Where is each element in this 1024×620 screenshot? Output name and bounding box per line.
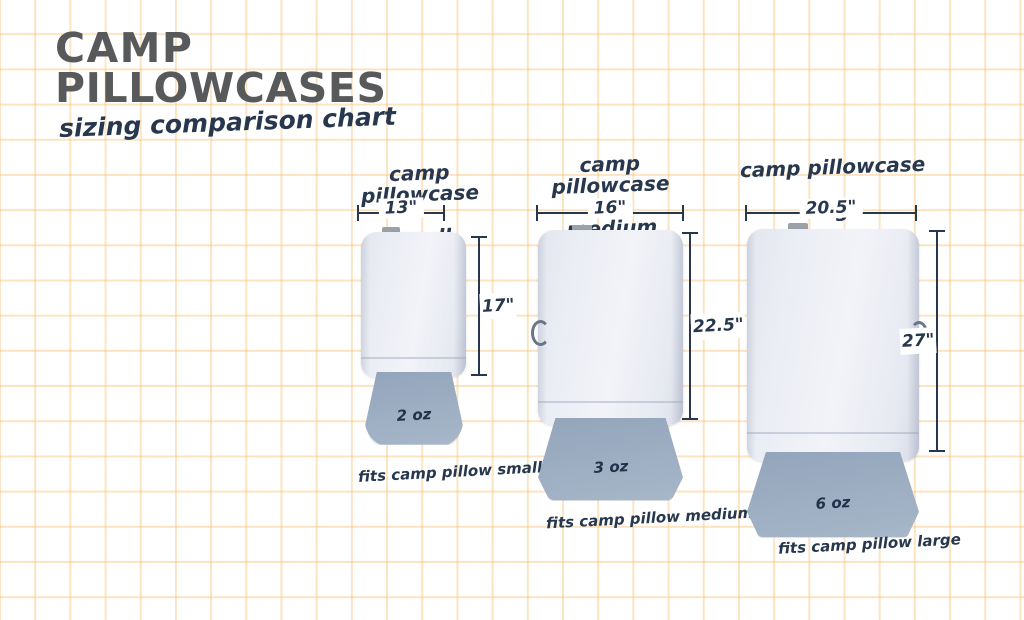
dimension-cap-bottom: [929, 450, 945, 452]
height-label-large: 27": [900, 327, 937, 355]
sizing-comparison-chart: CAMP PILLOWCASES sizing comparison chart…: [0, 0, 1024, 620]
dimension-cap-top: [929, 230, 945, 232]
product-photo-large: 6 oz: [740, 223, 930, 543]
height-dimension-large: 27": [928, 230, 946, 452]
product-name-large-line1: camp pillowcase: [740, 152, 926, 182]
case-hem: [747, 432, 919, 434]
pillow-large: 6 oz: [747, 452, 919, 540]
dimension-cap-left: [745, 205, 747, 221]
pillowcase-body-large: [747, 229, 919, 461]
case-shadow-left: [747, 229, 756, 461]
width-dimension-large: 20.5": [745, 203, 917, 221]
dimension-cap-right: [915, 205, 917, 221]
width-label-large: 20.5": [799, 197, 862, 219]
weight-label-large: 6 oz: [815, 493, 851, 513]
dimension-bar: [936, 230, 938, 452]
product-column-large: camp pillowcase large 20.5" 6 oz: [0, 0, 1024, 620]
